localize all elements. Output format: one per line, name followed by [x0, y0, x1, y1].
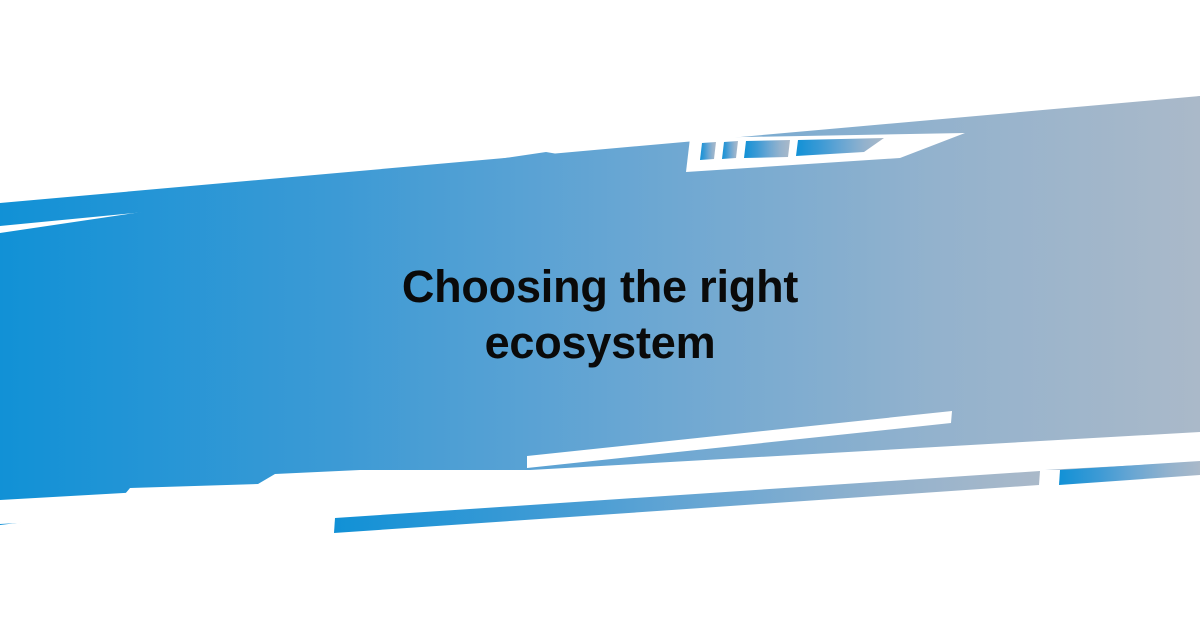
banner: Choosing the right ecosystem — [0, 0, 1200, 630]
dash-mark-1 — [700, 142, 716, 160]
dash-mark-3 — [744, 140, 790, 158]
bottom-left-step-notch — [0, 470, 1200, 630]
banner-background-art — [0, 0, 1200, 630]
dash-mark-2 — [722, 141, 738, 159]
